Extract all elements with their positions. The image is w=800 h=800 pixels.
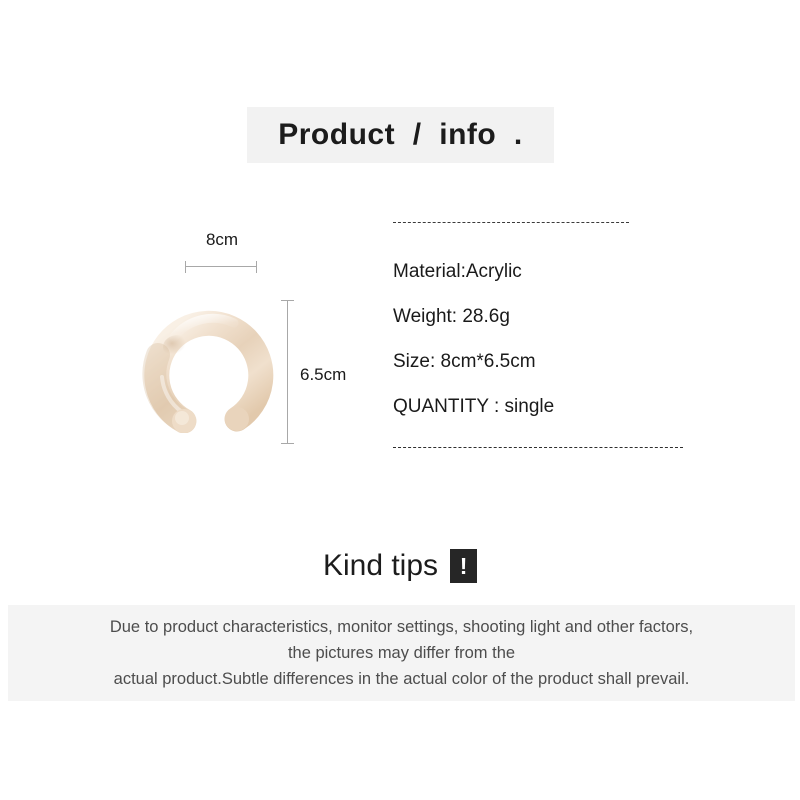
product-specs: Material:Acrylic Weight: 28.6g Size: 8cm… (393, 222, 693, 448)
specs-divider-bottom (393, 447, 683, 448)
kind-tips-label: Kind tips (323, 551, 438, 581)
dimension-height-line (287, 300, 288, 444)
dimension-width-cap-left (185, 261, 186, 273)
spec-size: Size: 8cm*6.5cm (393, 339, 693, 384)
spec-material: Material:Acrylic (393, 249, 693, 294)
spec-quantity: QUANTITY : single (393, 384, 693, 429)
page-title: Product / info . (278, 118, 523, 152)
disclaimer-line-3: actual product.Subtle differences in the… (114, 666, 690, 692)
product-bracelet-image (138, 293, 278, 433)
disclaimer-line-1: Due to product characteristics, monitor … (110, 614, 693, 640)
specs-divider-top (393, 222, 629, 223)
dimension-width-line (185, 266, 257, 267)
dimension-height-label: 6.5cm (300, 365, 346, 385)
dimension-width-bar (185, 261, 257, 273)
disclaimer-line-2: the pictures may differ from the (288, 640, 515, 666)
dimension-height-cap-bottom (281, 443, 294, 444)
kind-tips-disclaimer: Due to product characteristics, monitor … (8, 605, 795, 701)
dimension-width-cap-right (256, 261, 257, 273)
dimension-width-label: 8cm (185, 230, 259, 250)
page-title-box: Product / info . (247, 107, 554, 163)
dimension-height-bar (281, 300, 294, 444)
spec-weight: Weight: 28.6g (393, 294, 693, 339)
kind-tips-heading: Kind tips ! (0, 549, 800, 583)
exclamation-icon: ! (450, 549, 477, 583)
